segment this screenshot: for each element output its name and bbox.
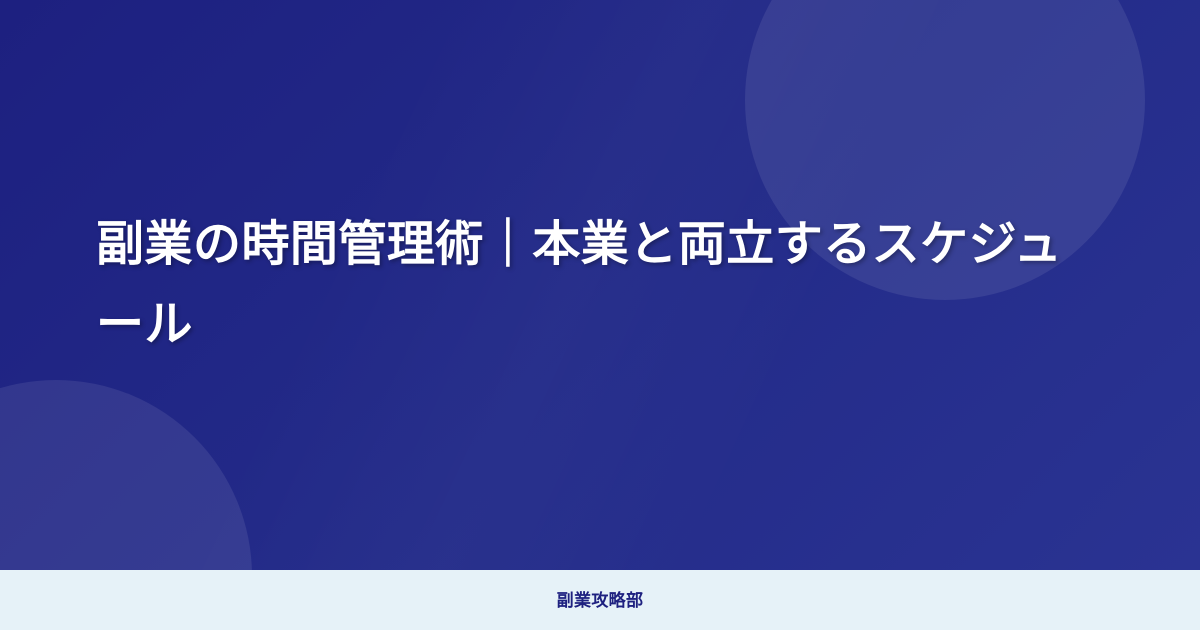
- og-image-card: 副業の時間管理術｜本業と両立するスケジュール 副業攻略部: [0, 0, 1200, 630]
- hero-banner: 副業の時間管理術｜本業と両立するスケジュール: [0, 0, 1200, 570]
- site-name-label: 副業攻略部: [557, 592, 644, 609]
- footer-bar: 副業攻略部: [0, 570, 1200, 630]
- page-title: 副業の時間管理術｜本業と両立するスケジュール: [96, 205, 1104, 365]
- title-container: 副業の時間管理術｜本業と両立するスケジュール: [0, 0, 1200, 570]
